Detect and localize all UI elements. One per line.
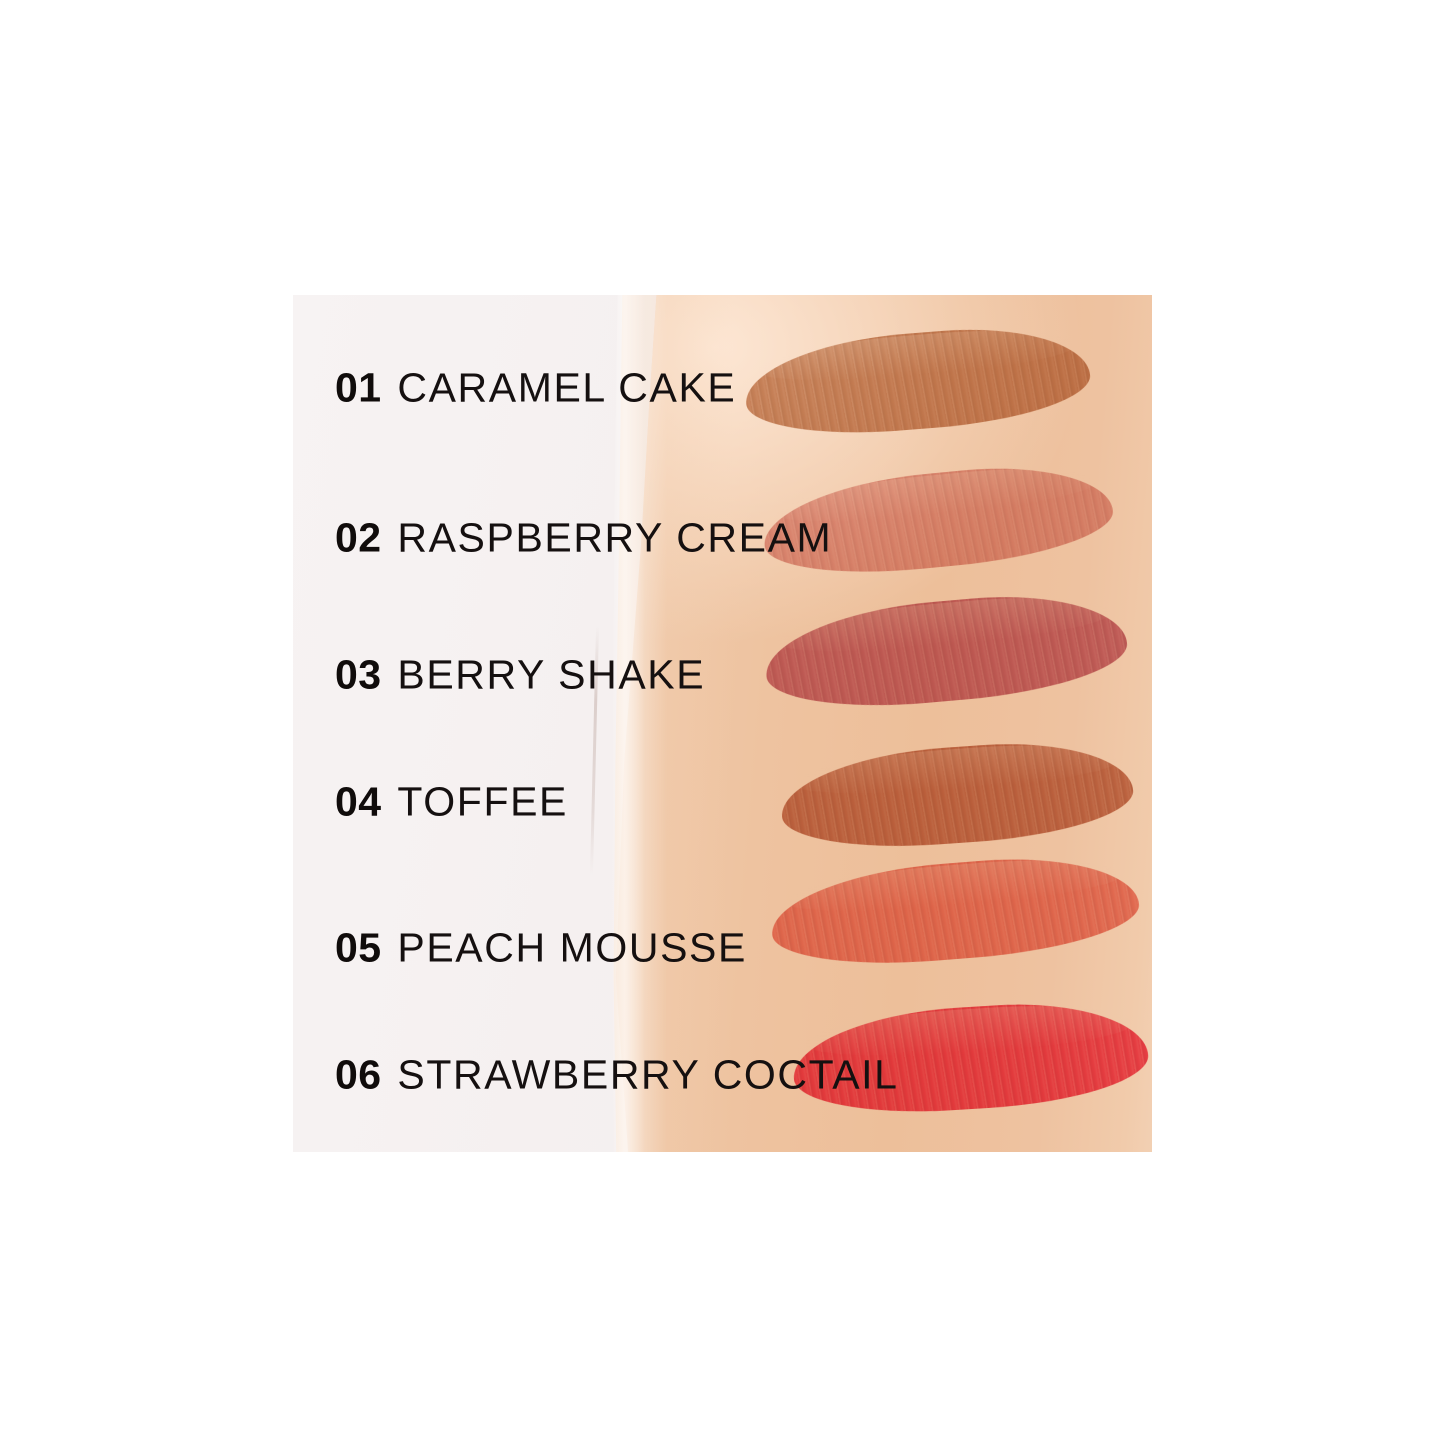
shade-label-row: 04TOFFEE: [335, 779, 568, 826]
shade-name: STRAWBERRY COCTAIL: [397, 1052, 898, 1099]
shade-name: CARAMEL CAKE: [397, 365, 736, 412]
shade-number: 03: [335, 652, 381, 699]
shade-name: TOFFEE: [397, 779, 568, 826]
shade-number: 04: [335, 779, 381, 826]
shade-name: RASPBERRY CREAM: [397, 515, 832, 562]
shade-label-row: 03BERRY SHAKE: [335, 652, 705, 699]
shade-number: 02: [335, 515, 381, 562]
shade-label-row: 05PEACH MOUSSE: [335, 925, 747, 972]
shade-number: 06: [335, 1052, 381, 1099]
lipstick-swatch-photo: 01CARAMEL CAKE02RASPBERRY CREAM03BERRY S…: [293, 295, 1152, 1152]
shade-number: 05: [335, 925, 381, 972]
shade-number: 01: [335, 365, 381, 412]
shade-label-row: 01CARAMEL CAKE: [335, 365, 736, 412]
shade-name: PEACH MOUSSE: [397, 925, 747, 972]
shade-label-row: 06STRAWBERRY COCTAIL: [335, 1052, 899, 1099]
shade-label-row: 02RASPBERRY CREAM: [335, 515, 832, 562]
shade-name: BERRY SHAKE: [397, 652, 705, 699]
screenshot-canvas: 01CARAMEL CAKE02RASPBERRY CREAM03BERRY S…: [0, 0, 1445, 1445]
